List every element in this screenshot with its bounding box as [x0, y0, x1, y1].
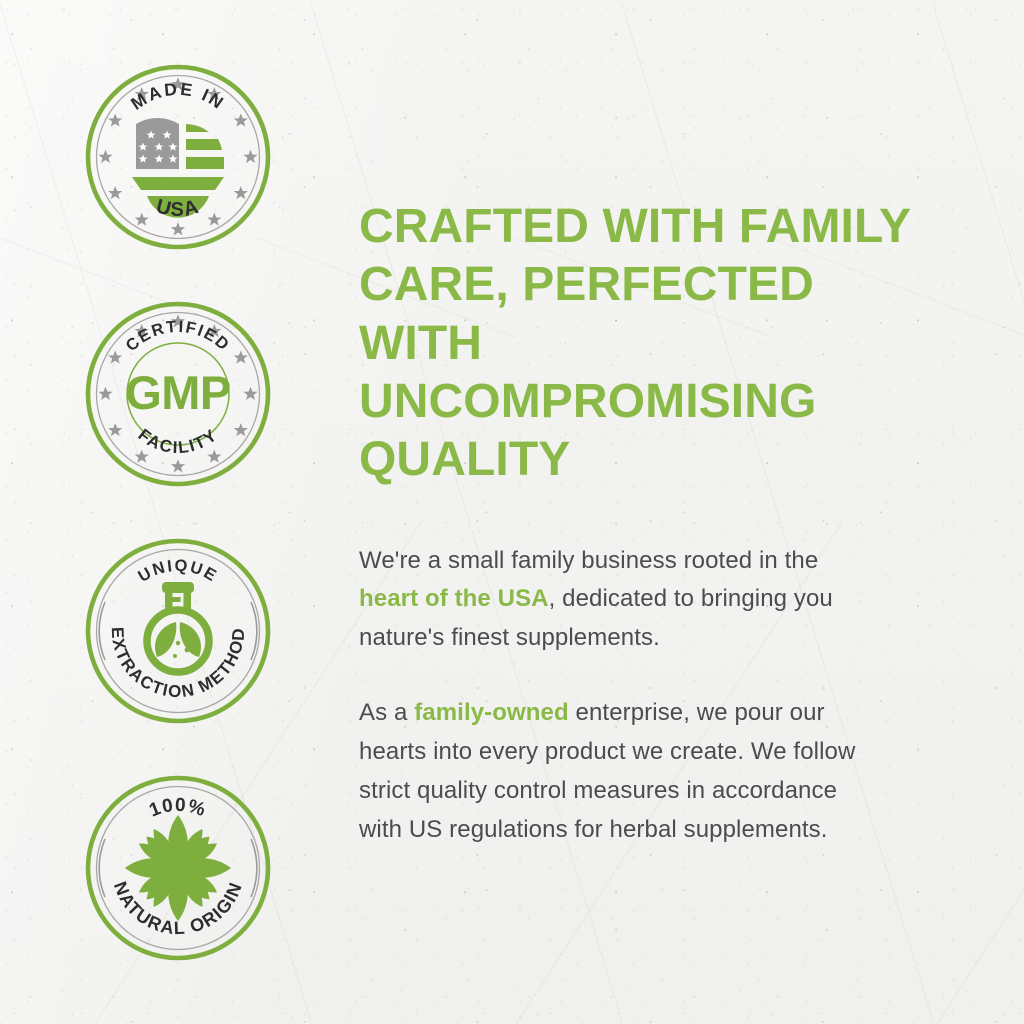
- paragraph-two: As a family-owned enterprise, we pour ou…: [359, 694, 879, 850]
- section-heading: CRAFTED WITH FAMILY CARE, PERFECTED WITH…: [359, 198, 919, 490]
- content-column: CRAFTED WITH FAMILY CARE, PERFECTED WITH…: [355, 0, 1024, 850]
- badge-made-in-usa: MADE IN USA: [83, 62, 273, 252]
- badge-unique-extraction-method: UNIQUE EXTRACTION METHOD: [83, 536, 273, 726]
- badge-gmp-certified-facility: GMP CERTIFIED FACILITY: [83, 299, 273, 489]
- arc-accent-left: [99, 602, 105, 660]
- arc-accent-left: [99, 839, 105, 897]
- paragraph-two-text-start: As a: [359, 699, 414, 726]
- paragraph-one-highlight: heart of the USA: [359, 585, 549, 612]
- badge-bottom-text: FACILITY: [134, 425, 221, 457]
- gmp-center-label: GMP: [125, 366, 231, 419]
- paragraph-one: We're a small family business rooted in …: [359, 542, 879, 659]
- trust-badge-column: MADE IN USA: [0, 0, 355, 963]
- brand-trust-section: MADE IN USA: [0, 0, 1024, 1024]
- arc-accent-right: [251, 839, 257, 897]
- flask-leaf-icon: [147, 582, 209, 672]
- badge-bottom-text: EXTRACTION METHOD: [107, 626, 247, 701]
- badge-top-text: UNIQUE: [135, 557, 221, 586]
- arc-accent-right: [251, 602, 257, 660]
- badge-natural-origin: 100% NATURAL ORIGIN: [83, 773, 273, 963]
- paragraph-one-text-start: We're a small family business rooted in …: [359, 547, 818, 574]
- paragraph-two-highlight: family-owned: [414, 699, 569, 726]
- badge-bottom-text: USA: [153, 195, 202, 221]
